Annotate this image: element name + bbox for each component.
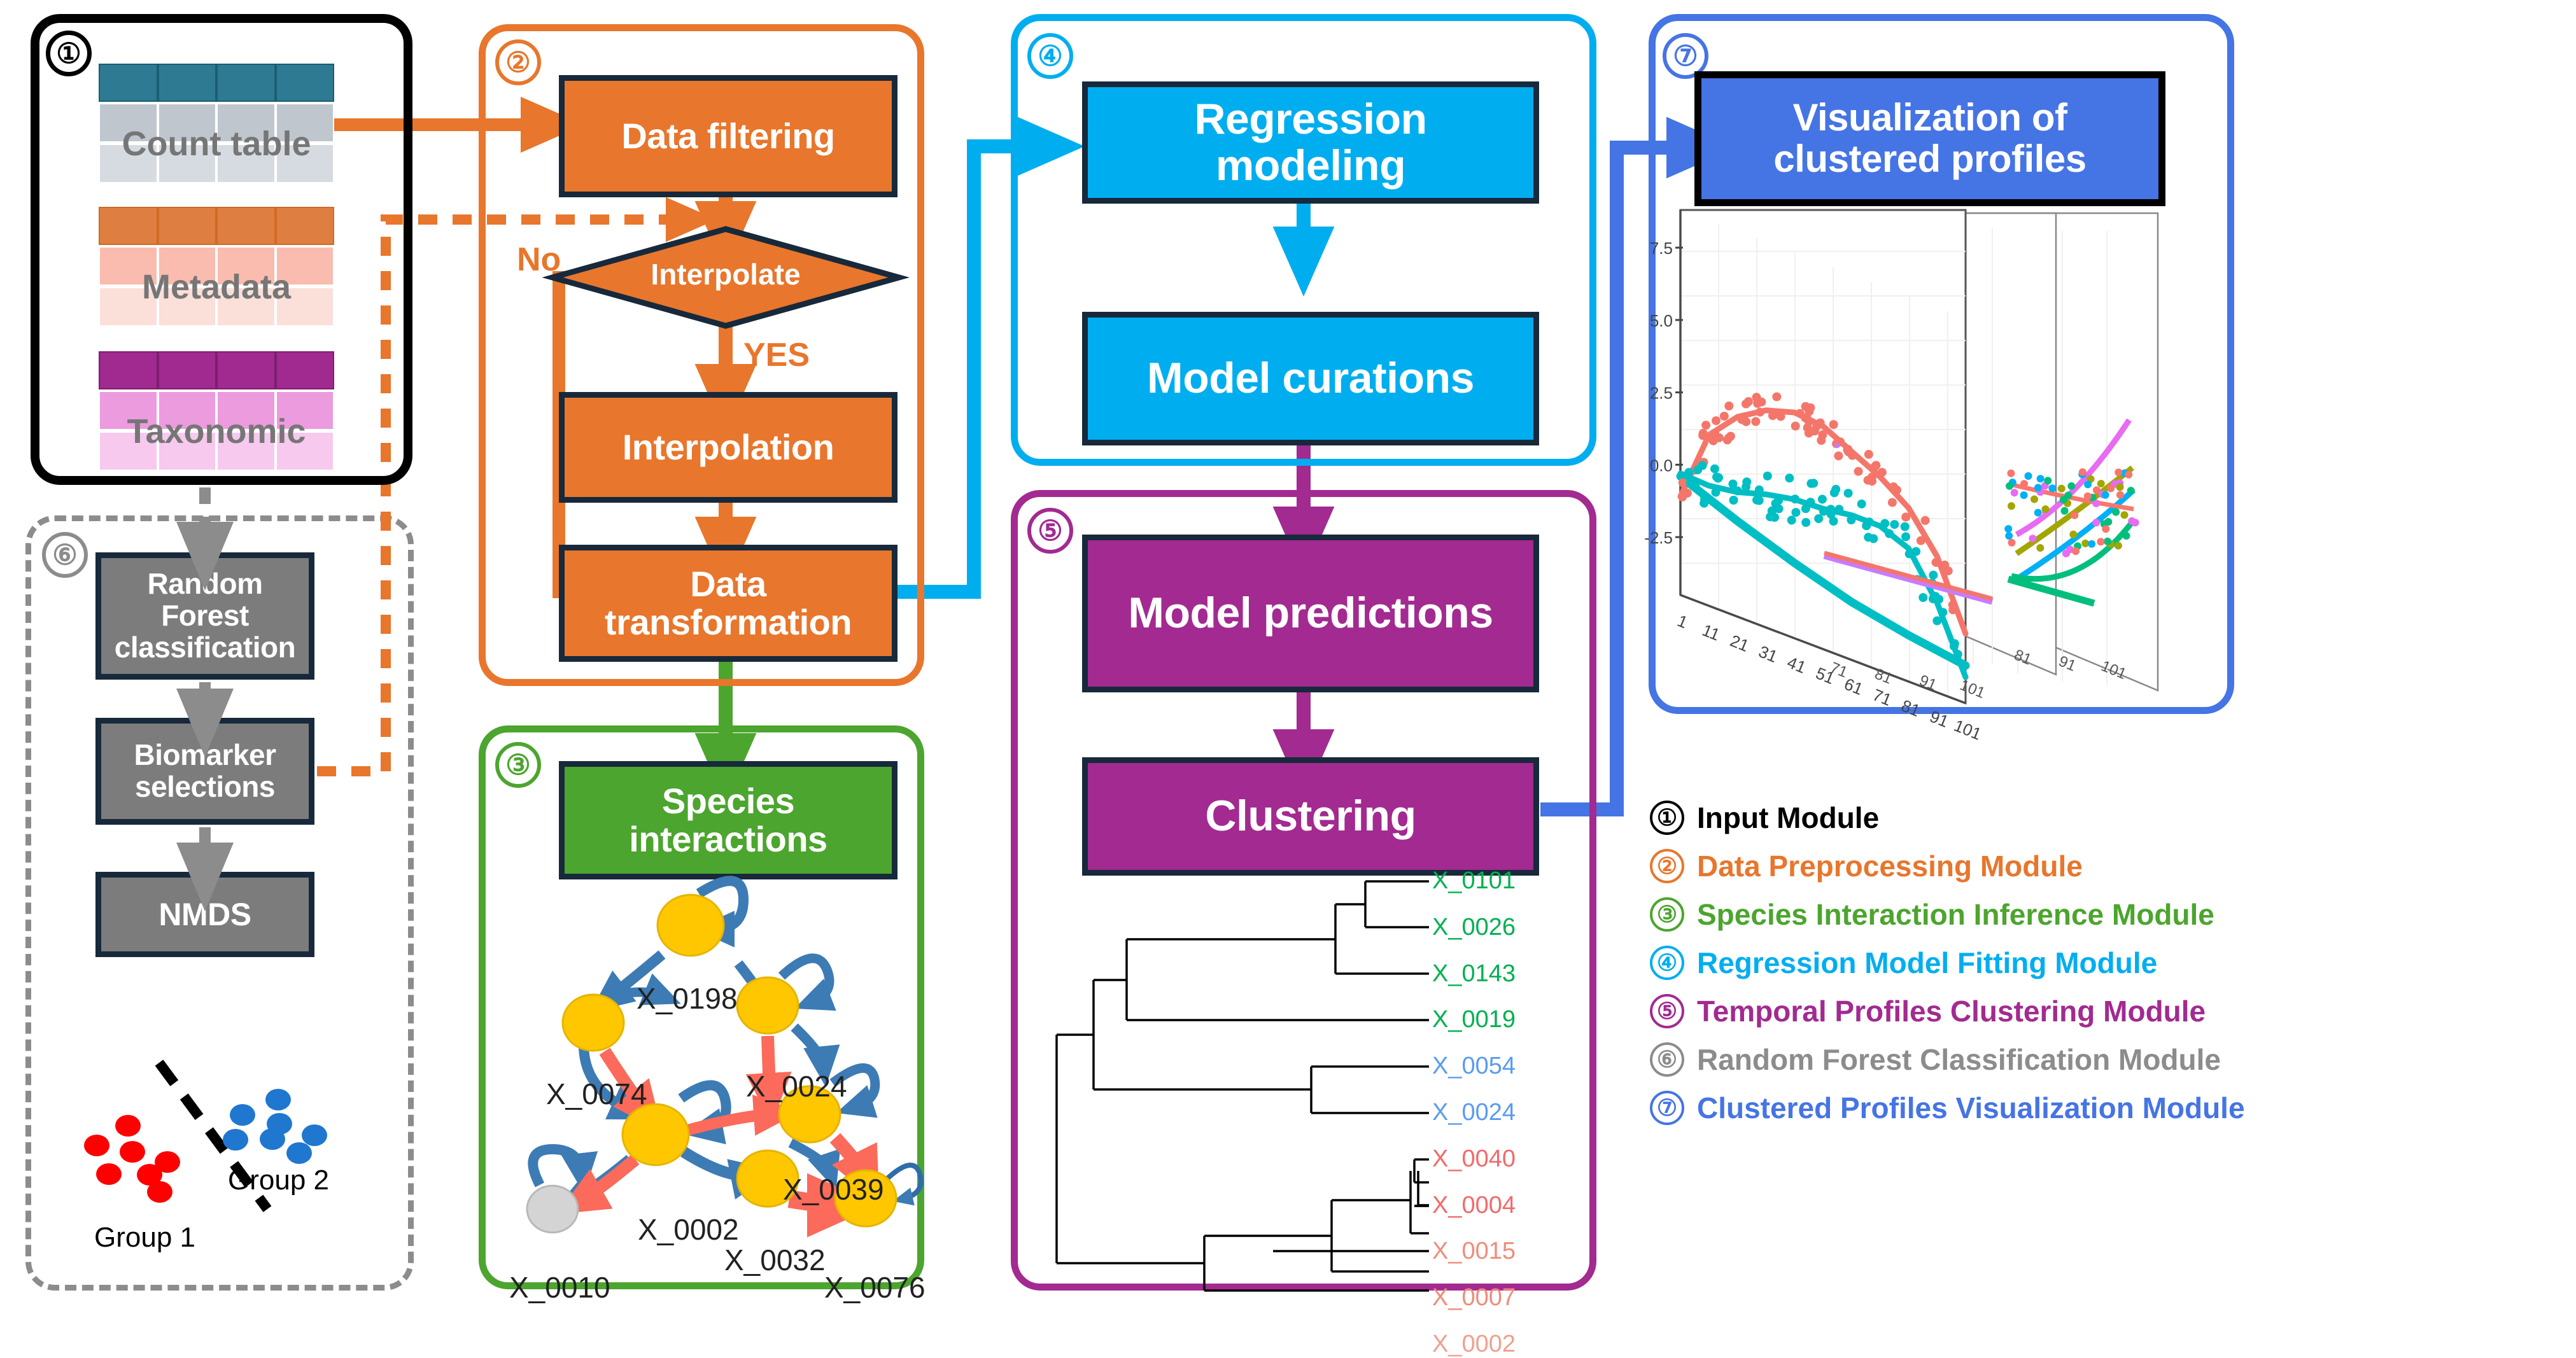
legend: ①Input Module②Data Preprocessing Module③… (1650, 801, 2245, 1139)
network-label-X_0074: X_0074 (546, 1077, 647, 1111)
legend-label: Clustered Profiles Visualization Module (1697, 1091, 2245, 1125)
dendrogram-leaf-X_0015: X_0015 (1432, 1238, 1516, 1265)
legend-number-icon: ⑥ (1650, 1042, 1684, 1077)
dendrogram-leaf-X_0054: X_0054 (1432, 1053, 1516, 1080)
prep-box-data-transformation[interactable]: Data transformation (559, 545, 897, 662)
prep-decision-label[interactable]: Interpolate (642, 257, 810, 291)
legend-number-icon: ⑦ (1650, 1091, 1684, 1125)
legend-item-4: ④Regression Model Fitting Module (1650, 946, 2245, 980)
legend-label: Input Module (1697, 801, 1879, 835)
input-table-taxonomic-caption: Taxonomic (99, 412, 334, 451)
nmds-group2-label: Group 2 (228, 1165, 329, 1196)
dendrogram-leaf-X_0004: X_0004 (1432, 1192, 1516, 1219)
legend-item-7: ⑦Clustered Profiles Visualization Module (1650, 1091, 2245, 1125)
viz-box-header[interactable]: Visualization of clustered profiles (1694, 71, 2165, 206)
legend-label: Temporal Profiles Clustering Module (1697, 994, 2206, 1028)
legend-label: Random Forest Classification Module (1697, 1042, 2221, 1077)
prep-box-data-filtering[interactable]: Data filtering (559, 75, 897, 197)
legend-number-icon: ④ (1650, 946, 1684, 980)
dendrogram-leaf-X_0024: X_0024 (1432, 1099, 1516, 1126)
nmds-group1-label: Group 1 (94, 1222, 195, 1254)
dendrogram-leaf-X_0040: X_0040 (1432, 1145, 1516, 1173)
legend-label: Species Interaction Inference Module (1697, 897, 2214, 932)
viz-x-tick: 101 (1952, 716, 1984, 744)
legend-number-icon: ② (1650, 849, 1684, 883)
legend-item-1: ①Input Module (1650, 801, 2245, 835)
module-6-number: ⑥ (42, 532, 88, 578)
module-5-number: ⑤ (1027, 508, 1073, 554)
legend-number-icon: ⑤ (1650, 994, 1684, 1028)
legend-item-3: ③Species Interaction Inference Module (1650, 897, 2245, 932)
module-2-number: ② (495, 39, 541, 85)
input-table-count-caption: Count table (99, 124, 334, 164)
legend-number-icon: ① (1650, 801, 1684, 835)
module-3-number: ③ (495, 742, 541, 788)
legend-item-2: ②Data Preprocessing Module (1650, 849, 2245, 883)
module-4-number: ④ (1027, 33, 1073, 79)
network-label-X_0024: X_0024 (746, 1069, 847, 1103)
regression-box-modeling[interactable]: Regression modeling (1082, 81, 1539, 204)
network-label-X_0002: X_0002 (638, 1212, 739, 1247)
dendrogram-leaf-X_0019: X_0019 (1432, 1006, 1516, 1033)
module-1-number: ① (46, 31, 92, 76)
clustering-box-predictions[interactable]: Model predictions (1082, 535, 1539, 692)
input-table-metadata-caption: Metadata (99, 267, 334, 307)
clustering-box-clustering[interactable]: Clustering (1082, 757, 1539, 876)
legend-item-5: ⑤Temporal Profiles Clustering Module (1650, 994, 2245, 1028)
network-label-X_0039: X_0039 (783, 1172, 884, 1207)
legend-number-icon: ③ (1650, 897, 1684, 932)
network-label-X_0032: X_0032 (724, 1243, 826, 1277)
dendrogram-leaf-X_0101: X_0101 (1432, 867, 1516, 895)
dendrogram-leaf-X_0143: X_0143 (1432, 960, 1516, 988)
rf-box-nmds[interactable]: NMDS (95, 872, 314, 957)
regression-box-curations[interactable]: Model curations (1082, 312, 1539, 445)
rf-box-random-forest[interactable]: Random Forest classification (95, 552, 314, 680)
prep-box-interpolation[interactable]: Interpolation (559, 392, 897, 503)
legend-label: Data Preprocessing Module (1697, 849, 2083, 883)
prep-branch-yes-label: YES (743, 336, 810, 374)
legend-label: Regression Model Fitting Module (1697, 946, 2157, 980)
dendrogram-leaf-X_0026: X_0026 (1432, 914, 1516, 941)
legend-item-6: ⑥Random Forest Classification Module (1650, 1042, 2245, 1077)
prep-branch-no-label: No (517, 241, 561, 279)
dendrogram-leaf-X_0007: X_0007 (1432, 1284, 1516, 1312)
network-label-X_0010: X_0010 (509, 1270, 610, 1305)
network-label-X_0076: X_0076 (824, 1270, 926, 1305)
species-box-header[interactable]: Species interactions (559, 761, 897, 879)
rf-box-biomarker[interactable]: Biomarker selections (95, 718, 314, 825)
dendrogram-leaf-X_0002: X_0002 (1432, 1331, 1516, 1358)
network-label-X_0198: X_0198 (637, 981, 738, 1016)
